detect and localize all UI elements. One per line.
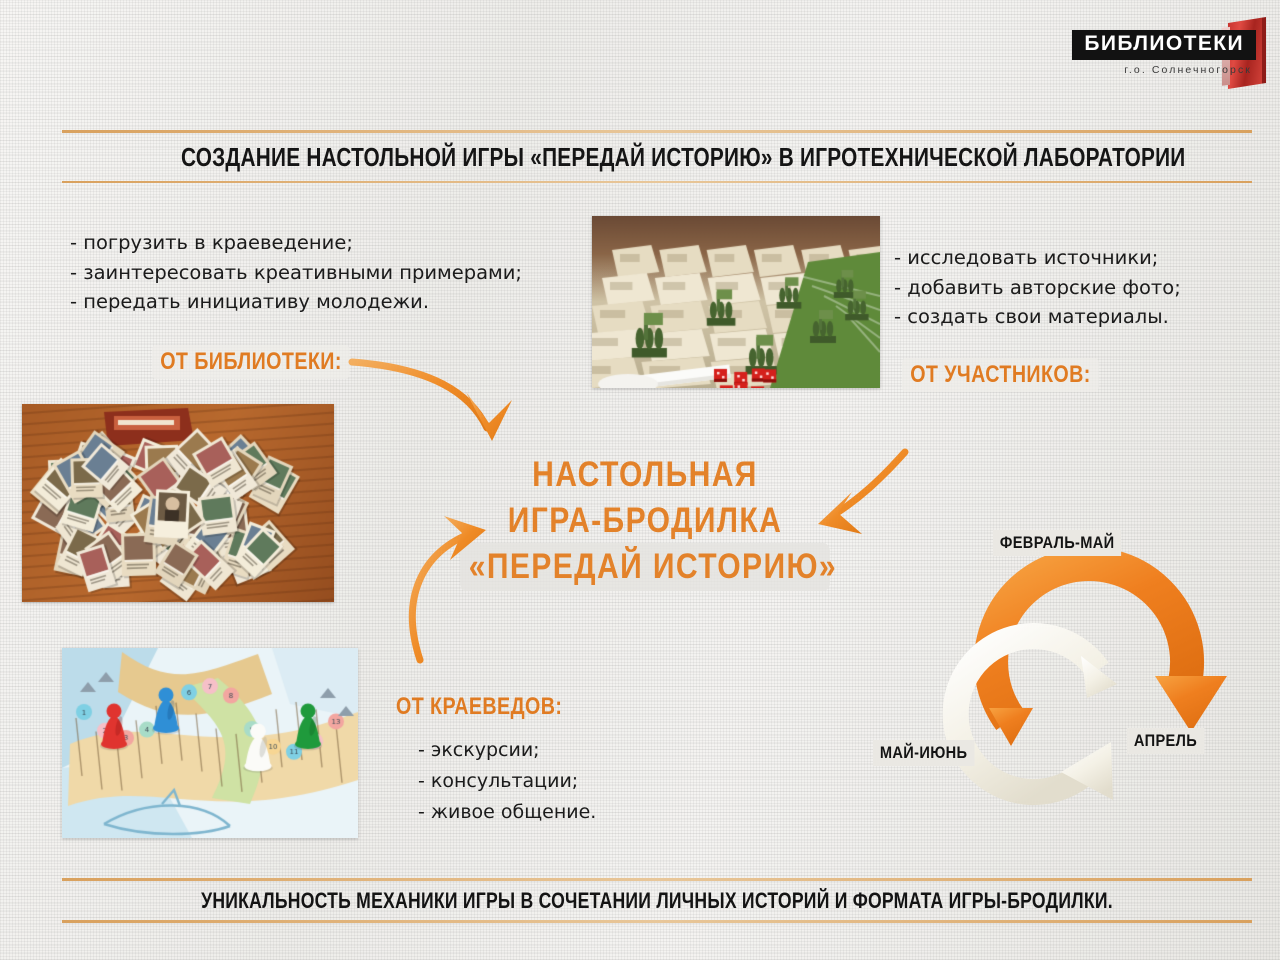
participants-bullet-list: - исследовать источники; - добавить авто… — [894, 243, 1181, 332]
central-title-line-3: «ПЕРЕДАЙ ИСТОРИЮ» — [460, 543, 830, 591]
cycle-label-may-june: МАЙ-ИЮНЬ — [873, 740, 974, 766]
library-bullet-list: - погрузить в краеведение; - заинтересов… — [70, 228, 522, 317]
cycle-label-april: АПРЕЛЬ — [1127, 728, 1204, 754]
arrow-library-to-center — [352, 362, 512, 441]
list-item: - заинтересовать креативными примерами; — [70, 258, 522, 288]
cycle-label-february-may: ФЕВРАЛЬ-МАЙ — [993, 530, 1121, 556]
cycle-arrow-orange — [989, 564, 1227, 746]
cycle-arrow-cream — [956, 636, 1117, 800]
list-item: - исследовать источники; — [894, 243, 1181, 273]
list-item: - живое общение. — [418, 797, 596, 828]
list-item: - консультации; — [418, 766, 596, 797]
list-item: - передать инициативу молодежи. — [70, 287, 522, 317]
board-game-pawns-photo — [62, 648, 358, 838]
history-cards-photo — [22, 404, 334, 602]
library-section-caption: ОТ БИБЛИОТЕКИ: — [152, 345, 350, 379]
footer-rule-bottom — [62, 920, 1252, 923]
library-logo: БИБЛИОТЕКИ г.о. Солнечногорск — [1074, 18, 1274, 90]
list-item: - экскурсии; — [418, 735, 596, 766]
title-rule-bottom — [62, 181, 1252, 183]
wargame-miniatures-photo — [592, 216, 880, 388]
list-item: - добавить авторские фото; — [894, 273, 1181, 303]
central-title-line-2: ИГРА-БРОДИЛКА — [460, 498, 830, 544]
infographic-poster: БИБЛИОТЕКИ г.о. Солнечногорск СОЗДАНИЕ Н… — [0, 0, 1280, 960]
central-game-title: НАСТОЛЬНАЯ ИГРА-БРОДИЛКА «ПЕРЕДАЙ ИСТОРИ… — [460, 452, 830, 591]
list-item: - погрузить в краеведение; — [70, 228, 522, 258]
page-title: СОЗДАНИЕ НАСТОЛЬНОЙ ИГРЫ «ПЕРЕДАЙ ИСТОРИ… — [181, 133, 1133, 181]
participants-section-caption: ОТ УЧАСТНИКОВ: — [902, 358, 1099, 392]
footer-text: УНИКАЛЬНОСТЬ МЕХАНИКИ ИГРЫ В СОЧЕТАНИИ Л… — [181, 881, 1133, 920]
project-timeline-cycle: ФЕВРАЛЬ-МАЙ АПРЕЛЬ МАЙ-ИЮНЬ — [855, 470, 1265, 860]
logo-subtitle: г.о. Солнечногорск — [1124, 64, 1252, 76]
list-item: - создать свои материалы. — [894, 302, 1181, 332]
local-historians-bullet-list: - экскурсии; - консультации; - живое общ… — [418, 735, 596, 827]
logo-nameplate: БИБЛИОТЕКИ — [1072, 30, 1256, 60]
page-title-block: СОЗДАНИЕ НАСТОЛЬНОЙ ИГРЫ «ПЕРЕДАЙ ИСТОРИ… — [62, 130, 1252, 183]
footer-block: УНИКАЛЬНОСТЬ МЕХАНИКИ ИГРЫ В СОЧЕТАНИИ Л… — [62, 878, 1252, 923]
local-historians-section-caption: ОТ КРАЕВЕДОВ: — [396, 690, 562, 724]
central-title-line-1: НАСТОЛЬНАЯ — [460, 452, 830, 498]
logo-name: БИБЛИОТЕКИ — [1084, 33, 1244, 56]
